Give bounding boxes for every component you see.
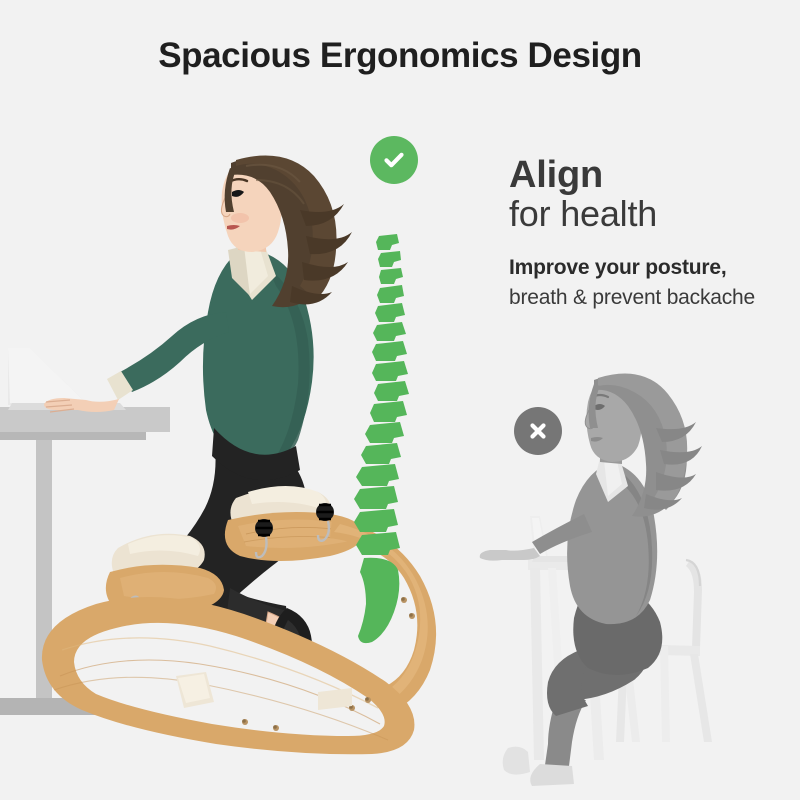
cross-badge bbox=[514, 407, 562, 455]
illustration-canvas bbox=[0, 0, 800, 800]
benefit-light-line: breath & prevent backache bbox=[509, 284, 779, 312]
check-icon bbox=[381, 147, 407, 173]
infographic-canvas: Spacious Ergonomics Design bbox=[0, 0, 800, 800]
headline-secondary: for health bbox=[509, 196, 657, 232]
headline-primary: Align bbox=[509, 156, 603, 194]
benefit-strong-line: Improve your posture, bbox=[509, 255, 727, 282]
spine-icon bbox=[354, 234, 409, 643]
close-icon bbox=[526, 419, 550, 443]
check-badge bbox=[370, 136, 418, 184]
